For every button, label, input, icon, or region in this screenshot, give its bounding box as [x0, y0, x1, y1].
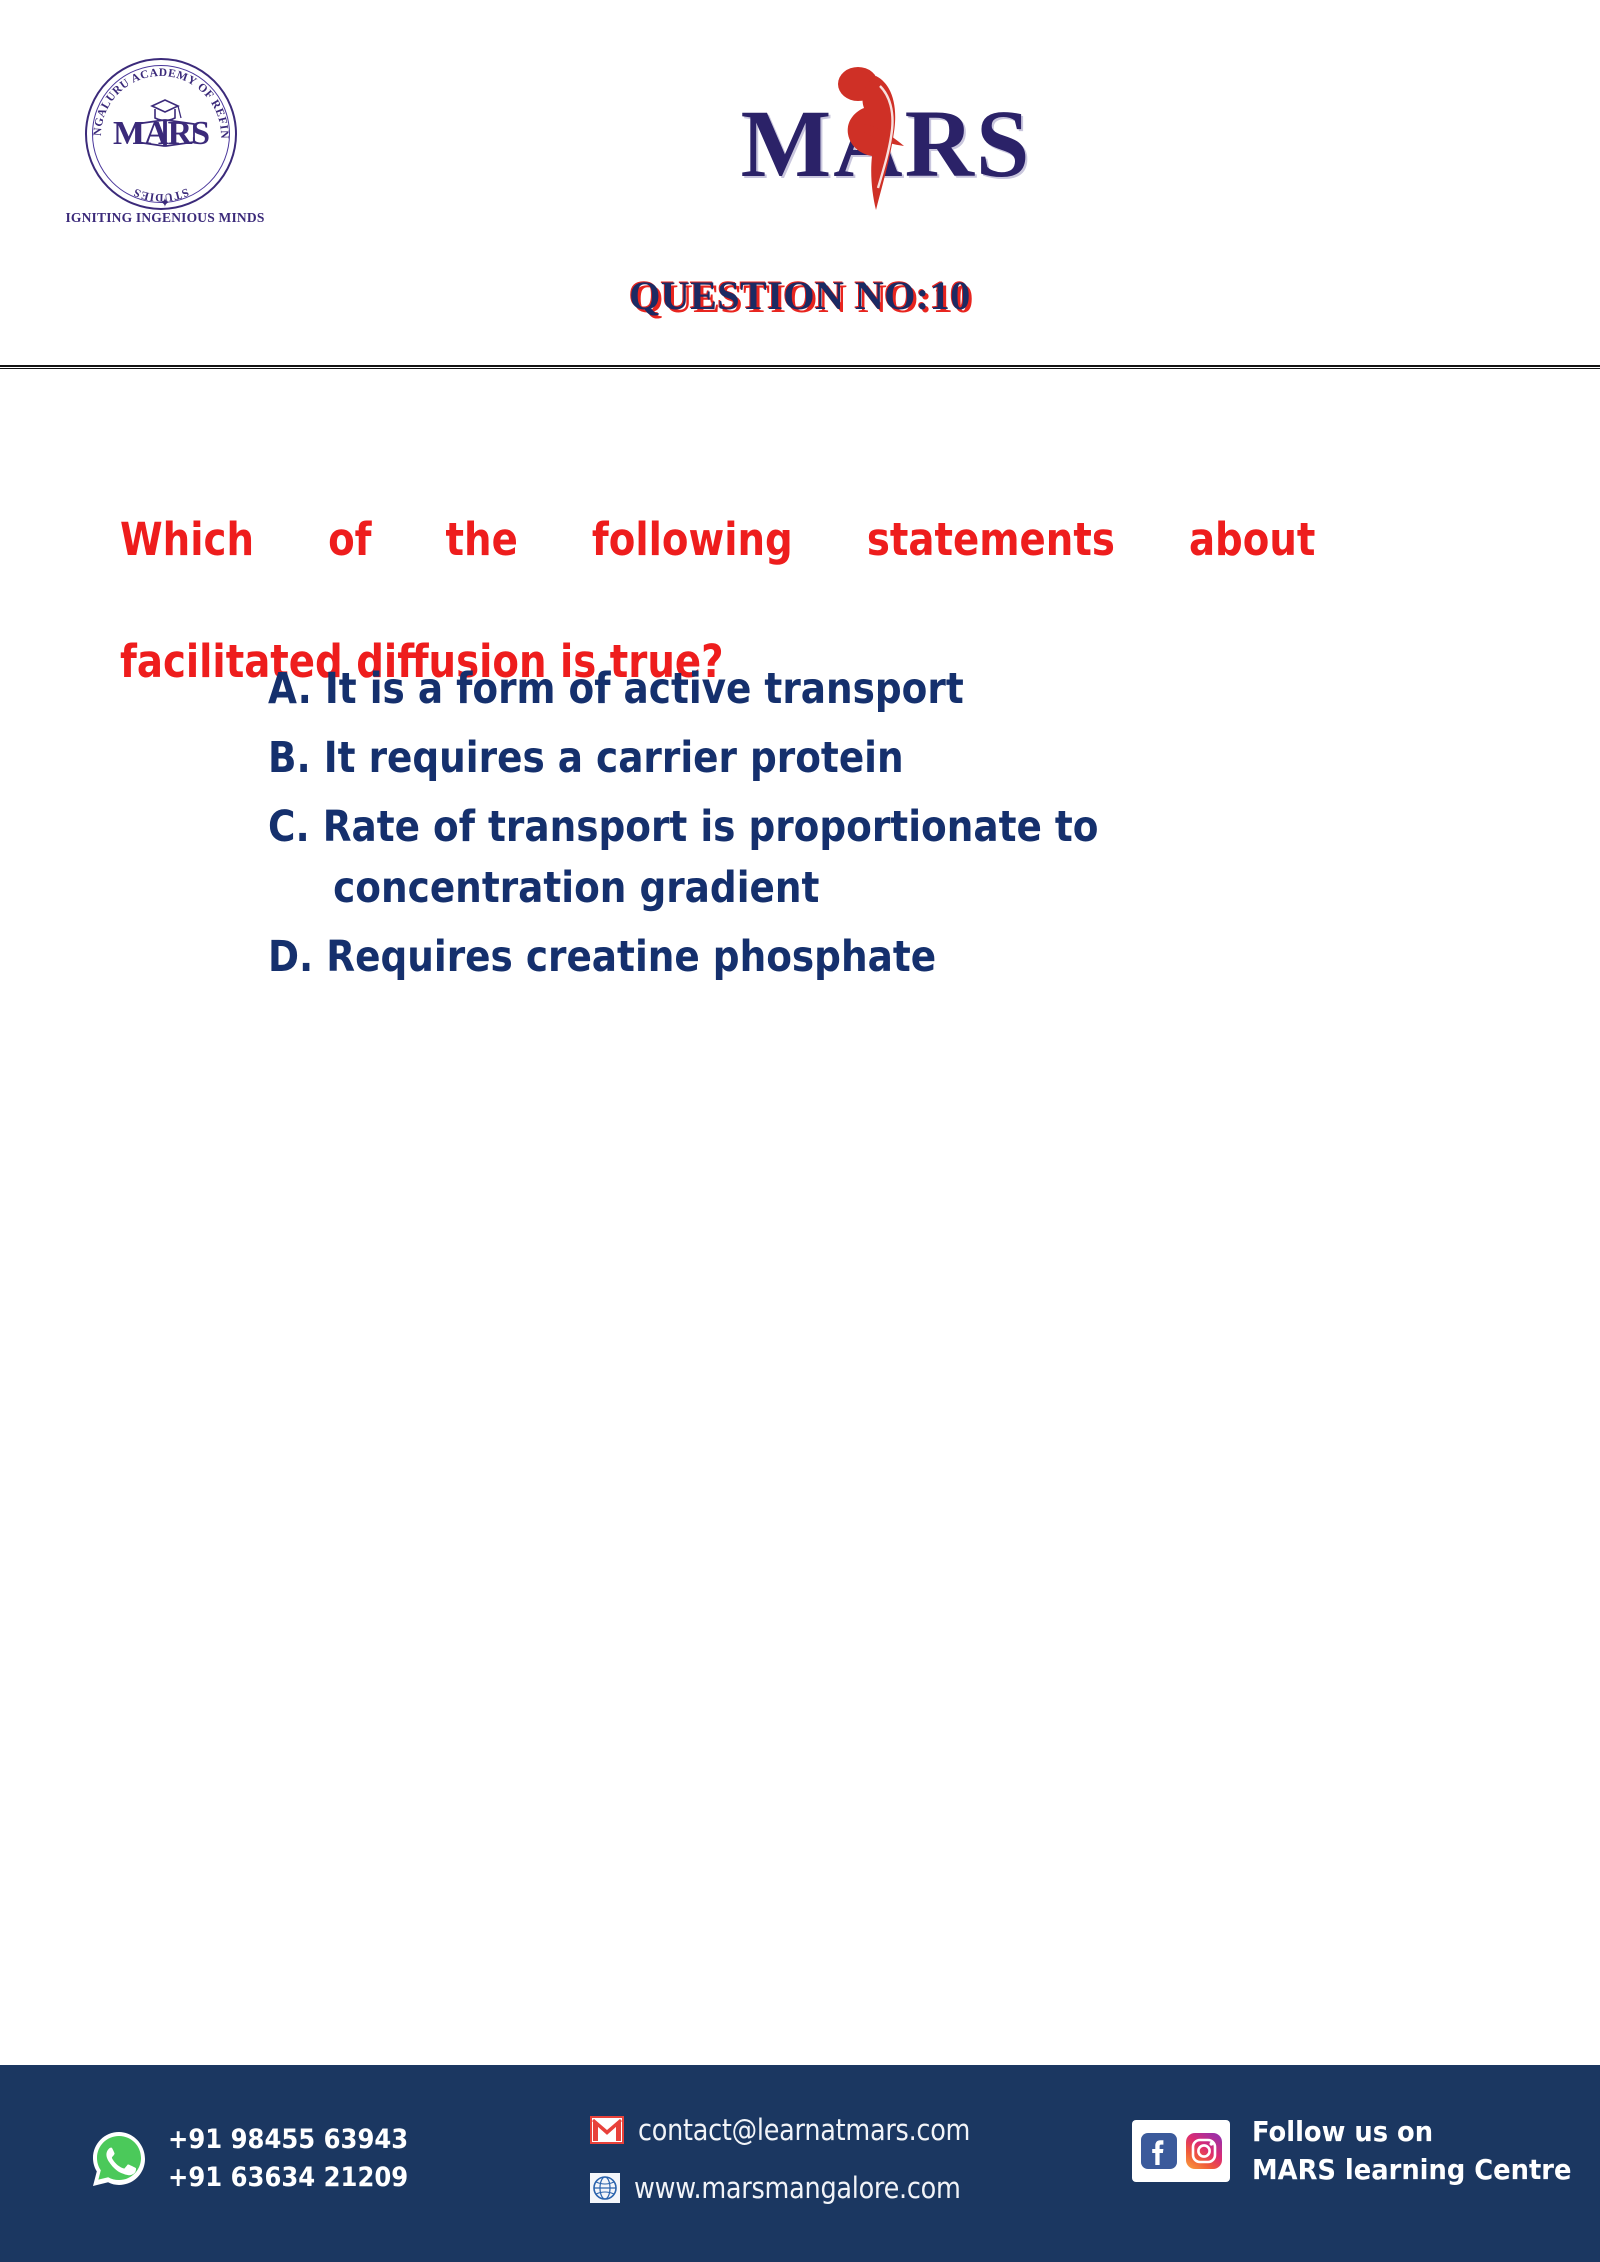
footer-contact-group: contact@learnatmars.com www.marsmangalor… [590, 2113, 1015, 2205]
social-page-name: MARS learning Centre [1252, 2151, 1571, 2189]
page-header: MANGALURU ACADEMY OF REFINED STUDIES MAR… [0, 0, 1600, 368]
question-content: Which of the following statements about … [0, 369, 1600, 2065]
facebook-icon [1139, 2131, 1179, 2171]
seal-star-icon: ✦ [160, 196, 171, 209]
seal-tagline: IGNITING INGENIOUS MINDS [60, 210, 270, 226]
phone-primary: +91 98455 63943 [168, 2121, 408, 2159]
footer-phone-group: +91 98455 63943 +91 63634 21209 [88, 2121, 435, 2198]
social-icons-badge[interactable] [1132, 2120, 1230, 2182]
phone-secondary: +91 63634 21209 [168, 2159, 408, 2197]
phone-numbers: +91 98455 63943 +91 63634 21209 [168, 2121, 408, 2198]
question-line-1: Which of the following statements about [120, 509, 1315, 631]
answer-options-list: A. It is a form of active transport B. I… [268, 659, 1468, 996]
gmail-icon [590, 2116, 624, 2144]
question-number-heading: QUESTION NO:10 [0, 272, 1600, 319]
instagram-icon [1184, 2131, 1224, 2171]
mars-brand-logo: MARS [716, 62, 1056, 212]
website-line[interactable]: www.marsmangalore.com [590, 2171, 1015, 2205]
option-b[interactable]: B. It requires a carrier protein [268, 728, 1312, 789]
page-footer: +91 98455 63943 +91 63634 21209 contact@… [0, 2065, 1600, 2262]
email-line[interactable]: contact@learnatmars.com [590, 2113, 1015, 2147]
follow-label: Follow us on [1252, 2113, 1571, 2151]
seal-monogram-text: MARS [113, 117, 209, 151]
website-url: www.marsmangalore.com [634, 2171, 961, 2205]
running-figure-icon [820, 62, 940, 212]
footer-social-group: Follow us on MARS learning Centre [1132, 2113, 1599, 2189]
globe-icon [590, 2173, 620, 2203]
academy-seal-logo: MANGALURU ACADEMY OF REFINED STUDIES MAR… [60, 58, 270, 233]
option-c[interactable]: C. Rate of transport is proportionate to… [268, 797, 1312, 919]
whatsapp-icon[interactable] [88, 2128, 150, 2190]
follow-us-text: Follow us on MARS learning Centre [1252, 2113, 1571, 2189]
option-d[interactable]: D. Requires creatine phosphate [268, 927, 1312, 988]
seal-monogram: MARS [85, 58, 237, 210]
email-address: contact@learnatmars.com [638, 2113, 970, 2147]
option-a[interactable]: A. It is a form of active transport [268, 659, 1312, 720]
